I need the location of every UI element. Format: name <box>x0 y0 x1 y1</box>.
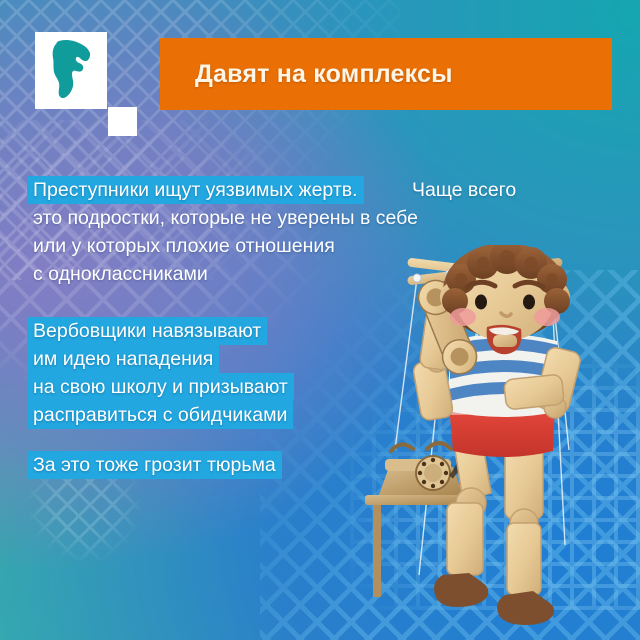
regional-map-silhouette-icon <box>43 38 99 102</box>
body-line: это подростки, которые не уверены в себе <box>27 204 424 232</box>
body-line: Вербовщики навязывают <box>27 317 267 345</box>
body-line: на свою школу и призывают <box>27 373 294 401</box>
body-line-tail: Чаще всего <box>412 176 516 204</box>
header-bar: Давят на комплексы <box>160 38 612 110</box>
logo <box>35 32 135 142</box>
logo-plate <box>35 32 107 109</box>
body-line: с одноклассниками <box>27 260 214 288</box>
body-line: За это тоже грозит тюрьма <box>27 451 282 479</box>
infographic-poster: Давят на комплексы Преступники ищут уязв… <box>0 0 640 640</box>
body-line: или у которых плохие отношения <box>27 232 341 260</box>
logo-accent-square <box>108 107 137 136</box>
page-title: Давят на комплексы <box>160 60 453 89</box>
marionette-illustration <box>355 245 640 640</box>
body-line: им идею нападения <box>27 345 219 373</box>
body-line: расправиться с обидчиками <box>27 401 293 429</box>
rotary-telephone-base <box>379 443 463 495</box>
body-line: Преступники ищут уязвимых жертв. <box>27 176 364 204</box>
